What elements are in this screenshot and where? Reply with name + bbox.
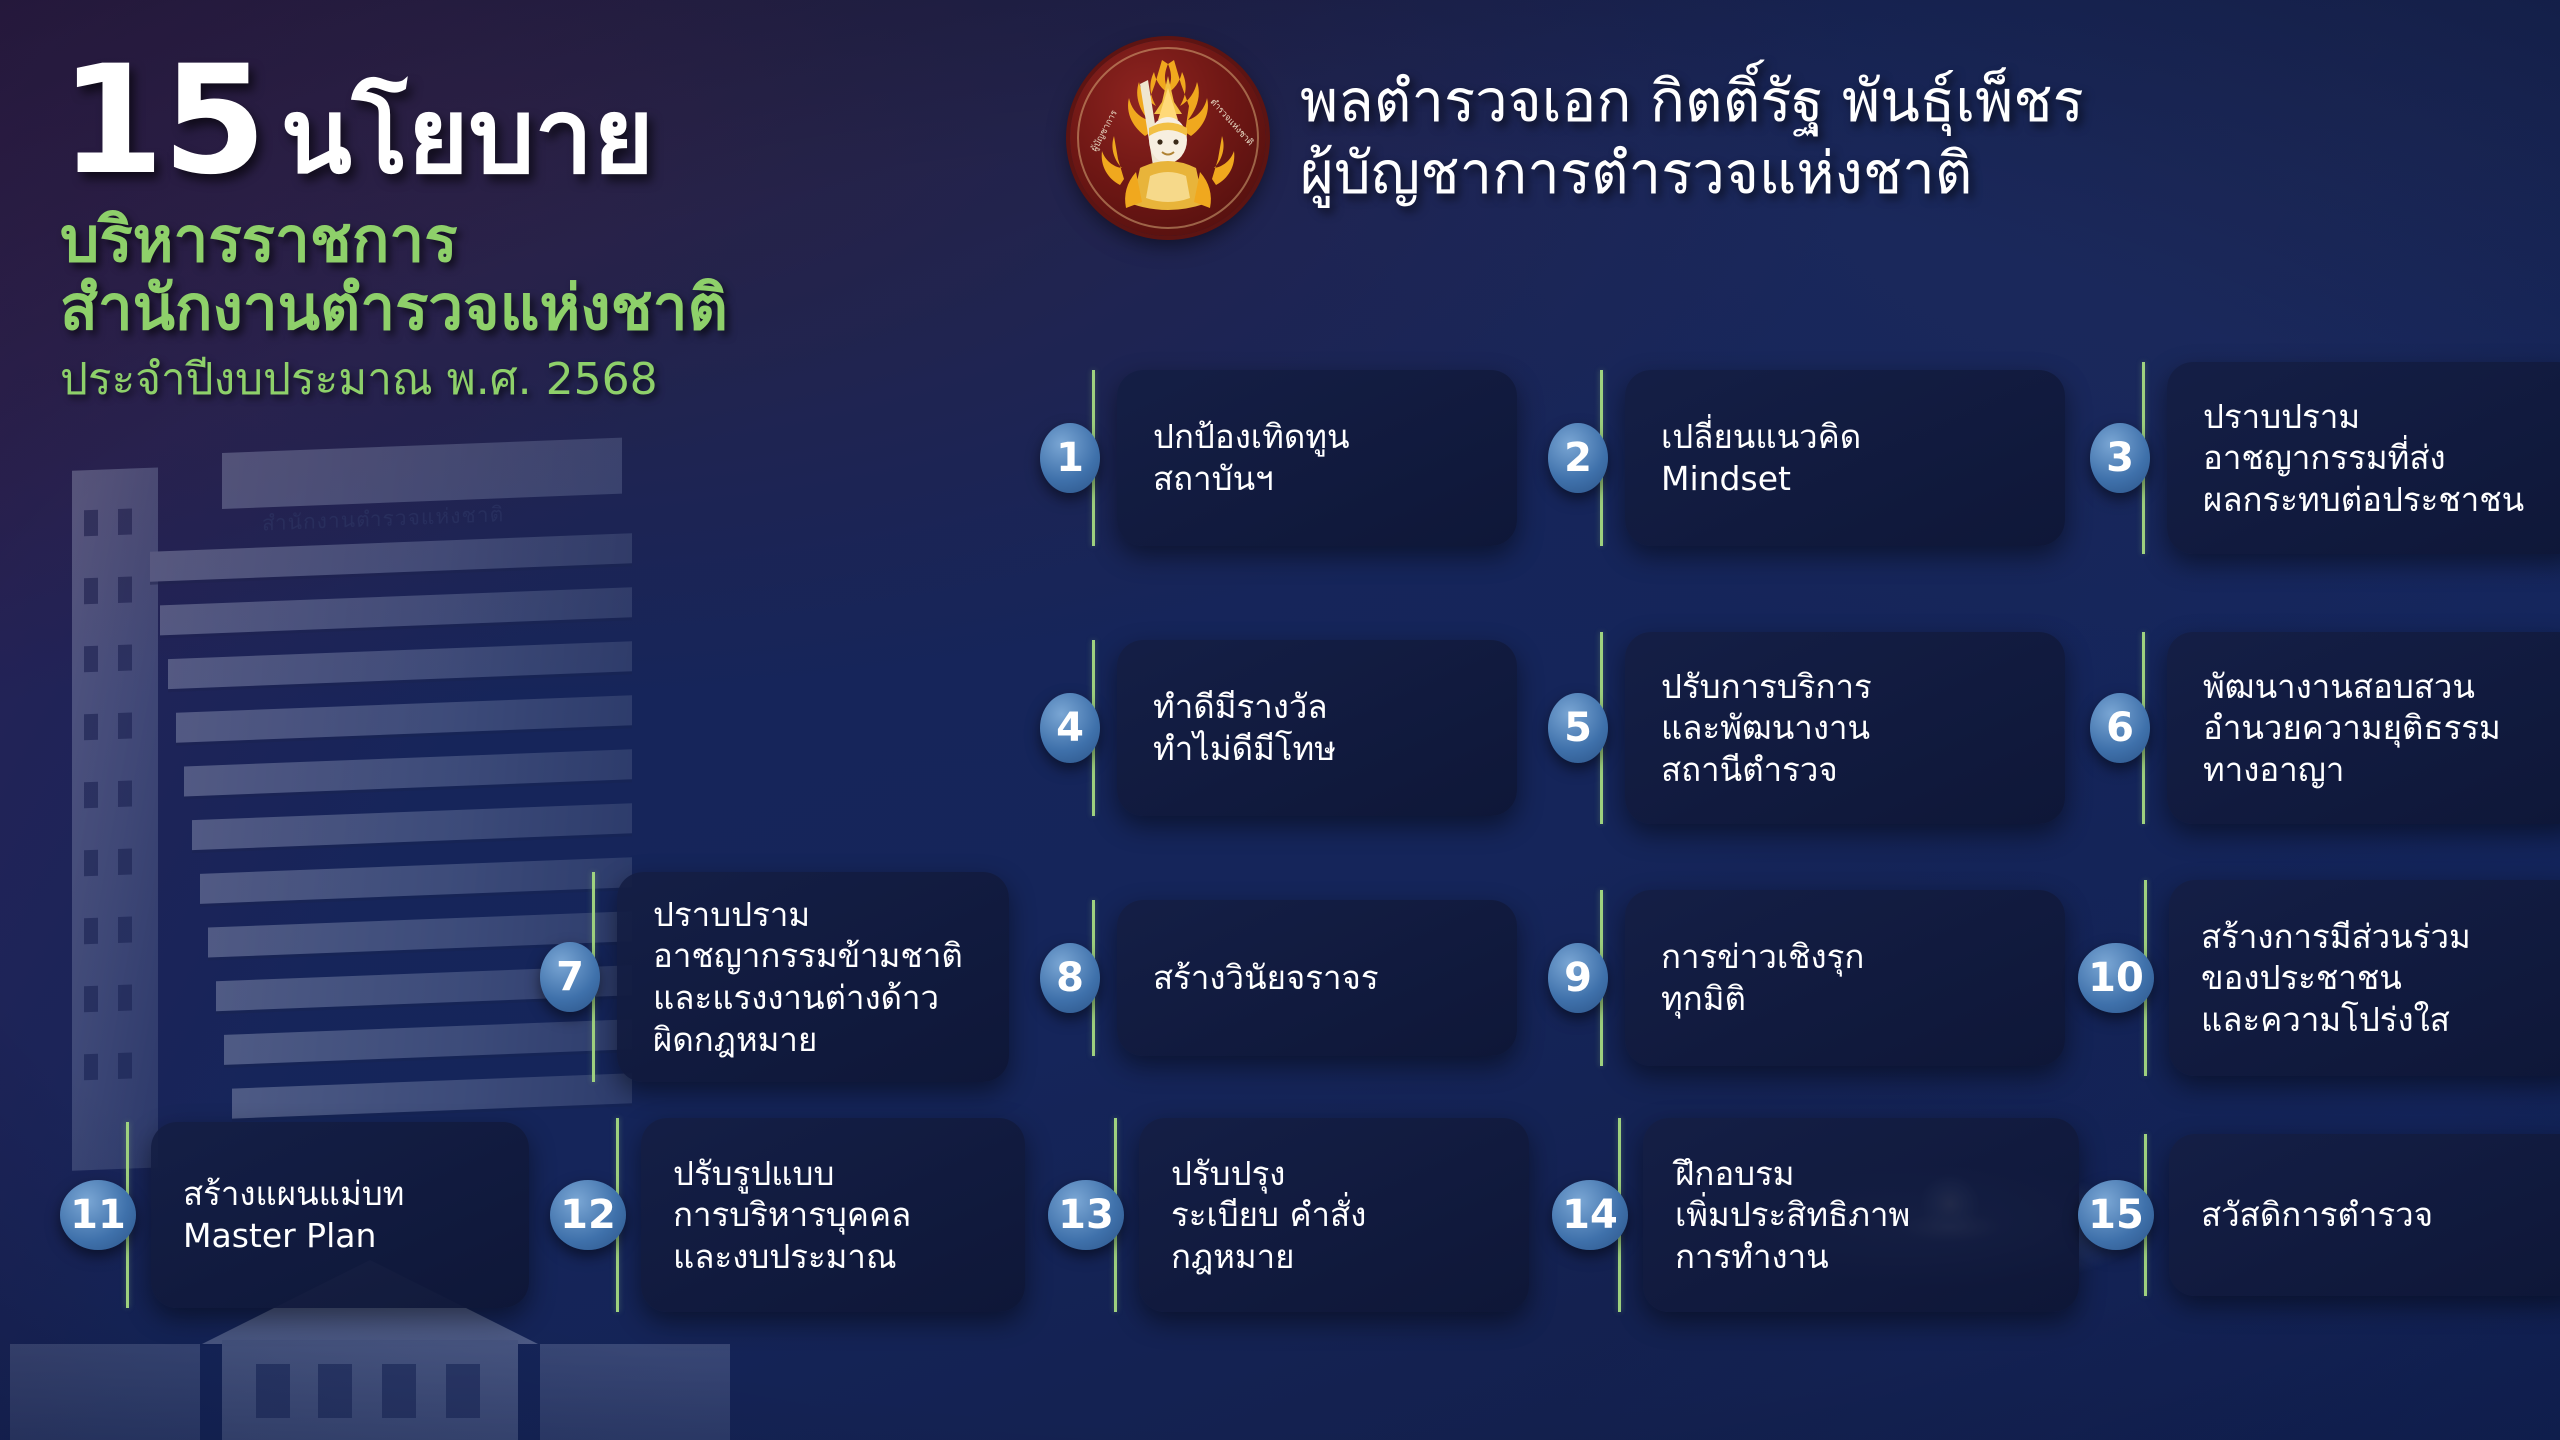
policy-text-15: สวัสดิการตำรวจ [2201,1194,2433,1236]
policy-item-2[interactable]: 2 เปลี่ยนแนวคิด Mindset [1548,370,2065,546]
policy-text-5: ปรับการบริการ และพัฒนางาน สถานีตำรวจ [1661,666,1872,791]
policy-badge-7: 7 [540,942,600,1012]
policy-card-11[interactable]: สร้างแผนแม่บท Master Plan [151,1122,529,1308]
policy-badge-6: 6 [2090,693,2150,763]
policy-text-3: ปราบปราม อาชญากรรมที่ส่ง ผลกระทบต่อประชา… [2203,396,2524,521]
policy-item-12[interactable]: 12 ปรับรูปแบบ การบริหารบุคคล และงบประมาณ [550,1118,1025,1312]
svg-text:ตำรวจแห่งชาติ: ตำรวจแห่งชาติ [1208,97,1256,148]
commissioner-block: ผู้บัญชาการ ตำรวจแห่งชาติ พลตำรวจเอก กิต… [1070,40,2084,236]
policy-badge-8: 8 [1040,943,1100,1013]
policy-card-8[interactable]: สร้างวินัยจราจร [1117,900,1517,1056]
policy-item-6[interactable]: 6 พัฒนางานสอบสวน อำนวยความยุติธรรม ทางอา… [2090,632,2560,824]
royal-thai-police-seal-icon: ผู้บัญชาการ ตำรวจแห่งชาติ [1070,40,1266,236]
commissioner-title: ผู้บัญชาการตำรวจแห่งชาติ [1300,138,2084,210]
policy-text-2: เปลี่ยนแนวคิด Mindset [1661,416,1861,499]
policy-card-5[interactable]: ปรับการบริการ และพัฒนางาน สถานีตำรวจ [1625,632,2065,824]
policy-item-13[interactable]: 13 ปรับปรุง ระเบียบ คำสั่ง กฎหมาย [1048,1118,1529,1312]
page-title-block: 15 นโยบาย บริหารราชการ สำนักงานตำรวจแห่ง… [60,52,720,405]
policy-card-7[interactable]: ปราบปราม อาชญากรรมข้ามชาติ และแรงงานต่าง… [617,872,1009,1082]
policy-card-10[interactable]: สร้างการมีส่วนร่วม ของประชาชน และความโปร… [2169,880,2560,1076]
policy-item-10[interactable]: 10 สร้างการมีส่วนร่วม ของประชาชน และความ… [2078,880,2560,1076]
subtitle-line-1: บริหารราชการ [60,206,720,274]
policy-card-6[interactable]: พัฒนางานสอบสวน อำนวยความยุติธรรม ทางอาญา [2167,632,2560,824]
policy-item-15[interactable]: 15 สวัสดิการตำรวจ [2078,1134,2560,1296]
policy-card-9[interactable]: การข่าวเชิงรุก ทุกมิติ [1625,890,2065,1066]
policy-card-14[interactable]: ฝึกอบรม เพิ่มประสิทธิภาพ การทำงาน [1643,1118,2079,1312]
policy-count: 15 [60,52,265,190]
policy-badge-11: 11 [60,1180,136,1250]
policy-text-13: ปรับปรุง ระเบียบ คำสั่ง กฎหมาย [1171,1153,1366,1278]
policy-item-4[interactable]: 4 ทำดีมีรางวัล ทำไม่ดีมีโทษ [1040,640,1517,816]
policy-badge-4: 4 [1040,693,1100,763]
policy-card-2[interactable]: เปลี่ยนแนวคิด Mindset [1625,370,2065,546]
policy-text-12: ปรับรูปแบบ การบริหารบุคคล และงบประมาณ [673,1153,911,1278]
policy-card-15[interactable]: สวัสดิการตำรวจ [2169,1134,2560,1296]
policy-card-1[interactable]: ปกป้องเทิดทูน สถาบันฯ [1117,370,1517,546]
policy-item-9[interactable]: 9 การข่าวเชิงรุก ทุกมิติ [1548,890,2065,1066]
policy-text-9: การข่าวเชิงรุก ทุกมิติ [1661,936,1864,1019]
policy-item-8[interactable]: 8 สร้างวินัยจราจร [1040,900,1517,1056]
policy-card-13[interactable]: ปรับปรุง ระเบียบ คำสั่ง กฎหมาย [1139,1118,1529,1312]
policy-text-11: สร้างแผนแม่บท Master Plan [183,1173,404,1256]
policy-text-7: ปราบปราม อาชญากรรมข้ามชาติ และแรงงานต่าง… [653,894,963,1060]
policy-card-12[interactable]: ปรับรูปแบบ การบริหารบุคคล และงบประมาณ [641,1118,1025,1312]
policy-card-3[interactable]: ปราบปราม อาชญากรรมที่ส่ง ผลกระทบต่อประชา… [2167,362,2560,554]
policy-text-10: สร้างการมีส่วนร่วม ของประชาชน และความโปร… [2201,916,2471,1041]
policy-badge-15: 15 [2078,1180,2154,1250]
policy-item-1[interactable]: 1 ปกป้องเทิดทูน สถาบันฯ [1040,370,1517,546]
policy-card-4[interactable]: ทำดีมีรางวัล ทำไม่ดีมีโทษ [1117,640,1517,816]
commissioner-rank-name: พลตำรวจเอก กิตติ์รัฐ พันธุ์เพ็ชร [1300,66,2084,138]
policy-badge-5: 5 [1548,693,1608,763]
policy-count-word: นโยบาย [281,84,654,188]
policy-text-14: ฝึกอบรม เพิ่มประสิทธิภาพ การทำงาน [1675,1153,1910,1278]
policy-item-14[interactable]: 14 ฝึกอบรม เพิ่มประสิทธิภาพ การทำงาน [1552,1118,2079,1312]
policy-badge-10: 10 [2078,943,2154,1013]
subtitle-line-2: สำนักงานตำรวจแห่งชาติ [60,274,720,342]
policy-item-11[interactable]: 11 สร้างแผนแม่บท Master Plan [60,1122,529,1308]
policy-badge-12: 12 [550,1180,626,1250]
policy-text-4: ทำดีมีรางวัล ทำไม่ดีมีโทษ [1153,686,1336,769]
policy-item-5[interactable]: 5 ปรับการบริการ และพัฒนางาน สถานีตำรวจ [1548,632,2065,824]
policy-item-7[interactable]: 7 ปราบปราม อาชญากรรมข้ามชาติ และแรงงานต่… [540,872,1009,1082]
policy-badge-9: 9 [1548,943,1608,1013]
infographic-canvas: สำนักงานตำรวจแห่งชาติ 15 นโยบาย บริหารรา… [0,0,2560,1440]
commissioner-name-block: พลตำรวจเอก กิตติ์รัฐ พันธุ์เพ็ชร ผู้บัญช… [1300,66,2084,210]
policy-badge-1: 1 [1040,423,1100,493]
policy-badge-2: 2 [1548,423,1608,493]
policy-text-1: ปกป้องเทิดทูน สถาบันฯ [1153,416,1350,499]
policy-text-6: พัฒนางานสอบสวน อำนวยความยุติธรรม ทางอาญา [2203,666,2501,791]
policy-badge-14: 14 [1552,1180,1628,1250]
policy-item-3[interactable]: 3 ปราบปราม อาชญากรรมที่ส่ง ผลกระทบต่อประ… [2090,362,2560,554]
policy-text-8: สร้างวินัยจราจร [1153,957,1379,999]
budget-year: ประจำปีงบประมาณ พ.ศ. 2568 [60,356,720,404]
policy-badge-13: 13 [1048,1180,1124,1250]
policy-badge-3: 3 [2090,423,2150,493]
